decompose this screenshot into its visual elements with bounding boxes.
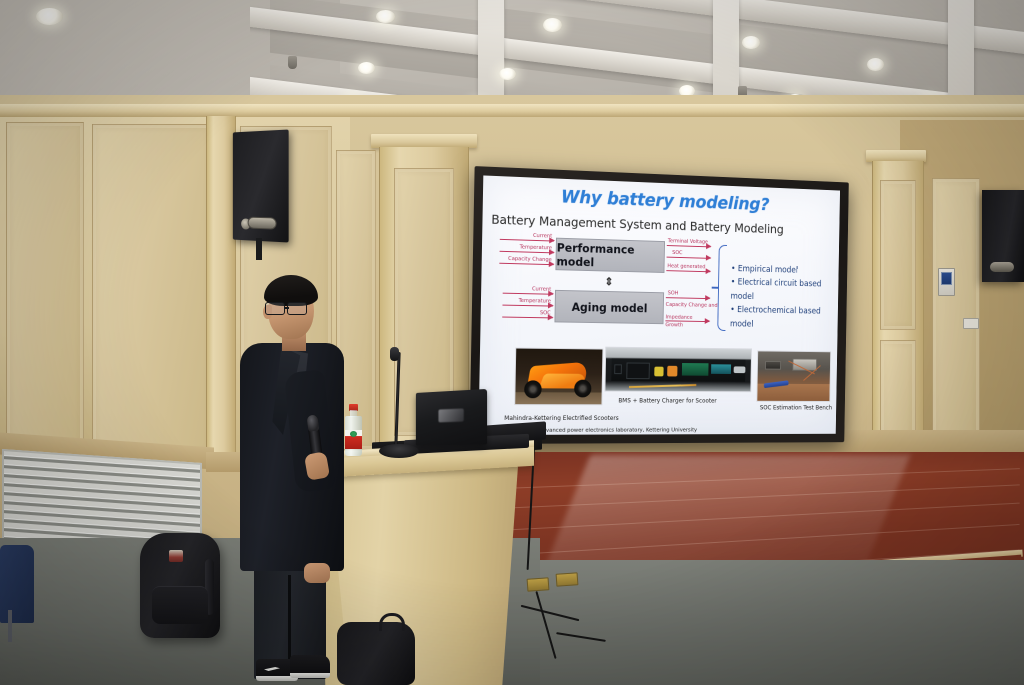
wall-panel [880,180,916,330]
control-panel-display [941,272,952,285]
gooseneck-microphone-base [379,444,419,458]
performance-model-box: Performance model [555,238,665,273]
backpack [140,533,220,638]
chair-leg [8,610,12,642]
wall-cornice [0,104,1024,117]
pilaster-capital [371,134,477,148]
model-type-item: Electrical circuit based model [730,275,838,305]
output-label: SOC [672,250,682,256]
backpack-pocket [152,586,208,624]
downlight [543,18,562,32]
screen-bezel: Why battery modeling? Battery Management… [469,166,848,444]
downlight [376,10,395,23]
output-arrow [667,245,711,247]
bms-charger-photo [604,347,752,393]
slide-footer: Advanced power electronics laboratory, K… [539,428,697,434]
laptop[interactable] [416,389,487,446]
floor-outlet [527,577,550,592]
presenter-hand [304,451,330,480]
floor-outlet [556,572,579,587]
input-label: SOC [494,309,550,316]
bidirectional-link-icon: ⇕ [605,275,614,288]
speaker-badge [248,217,277,230]
model-type-list: Empirical model Electrical circuit based… [730,261,839,332]
brace [717,245,727,331]
black-bag [337,622,415,685]
output-label: Heat generated [667,263,705,270]
input-label: Current [495,286,551,293]
wall-panel [92,124,212,454]
downlight [36,8,63,25]
output-arrow [666,297,710,299]
conference-room-scene: Why battery modeling? Battery Management… [0,0,1024,685]
downlight [358,62,375,74]
gooseneck-microphone-head [390,347,399,361]
projection-screen: Why battery modeling? Battery Management… [469,166,848,444]
glasses-icon [265,302,285,315]
downlight [499,68,516,80]
downlight [742,36,760,49]
output-label: Capacity Change and [666,302,718,309]
input-arrow [502,305,552,307]
input-label: Temperature [491,297,551,304]
glasses-icon [287,302,307,315]
scooter-caption: Mahindra-Kettering Electrified Scooters [504,415,619,422]
scooter-photo [514,348,603,406]
output-label: Impedance [665,315,692,321]
laptop-logo-icon [438,408,463,422]
output-label: Growth [665,322,683,328]
ceiling-speaker-icon [288,56,297,69]
wall-speaker [982,190,1024,282]
test-bench-caption: SOC Estimation Test Bench [760,405,832,412]
presentation-slide: Why battery modeling? Battery Management… [478,175,840,435]
brace-stub [712,287,718,289]
downlight [867,58,884,71]
output-label: Terminal Voltage [668,238,708,245]
output-arrow [667,257,711,259]
output-arrow [666,270,710,272]
test-bench-photo [756,350,831,401]
presenter-hand [304,563,330,583]
input-arrow [502,317,552,319]
output-label: SOH [668,290,679,296]
bag-handle [379,613,405,631]
bms-charger-caption: BMS + Battery Charger for Scooter [618,397,716,404]
backpack-logo-icon [169,550,183,562]
speaker-mount [256,238,262,260]
wall-panel [6,122,84,452]
input-arrow [503,293,553,295]
wall-speaker [233,129,289,242]
presenter [232,275,352,685]
aging-model-box: Aging model [554,290,664,324]
model-type-item: Electrochemical based model [730,303,838,332]
wall-outlet [963,318,979,329]
speaker-badge [990,262,1014,272]
chair [0,545,34,623]
input-label: Capacity Change [486,255,552,263]
input-arrow [499,263,553,265]
wall-control-panel[interactable] [938,268,955,296]
